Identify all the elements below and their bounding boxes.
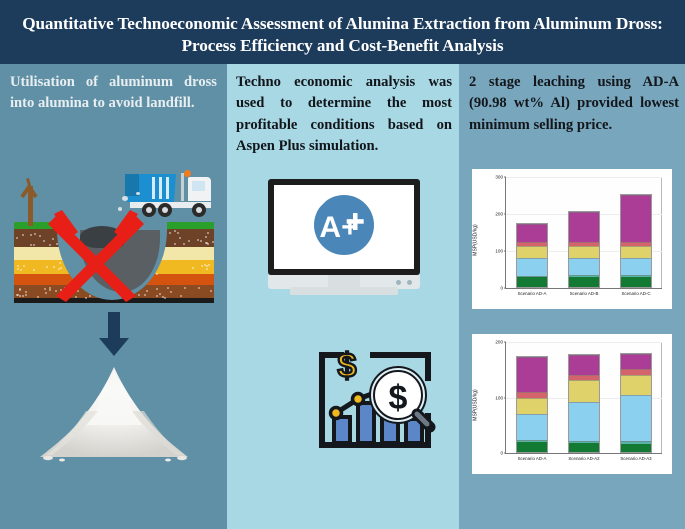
soil-speckle <box>17 265 19 267</box>
stacked-bar <box>620 194 652 288</box>
page-title: Quantitative Technoeconomic Assessment o… <box>12 13 673 56</box>
financial-analysis-icon: $ $ <box>314 341 436 453</box>
bar-segment-series-4 <box>517 398 547 414</box>
y-axis-tick-mark <box>504 213 506 214</box>
stacked-bar <box>568 354 600 453</box>
y-axis-tick-label: 300 <box>495 175 503 180</box>
bar-segment-series-6 <box>569 355 599 375</box>
bar-segment-series-3 <box>517 414 547 440</box>
graphical-abstract: Quantitative Technoeconomic Assessment o… <box>0 0 685 529</box>
chart-lower: MSP(USD/kg) 0100200Scenario AD-AScenario… <box>476 339 668 471</box>
chart-lower-plot-area: 0100200Scenario AD-AScenario AD-A2Scenar… <box>505 342 662 454</box>
landfill-illustration <box>14 170 214 303</box>
stacked-bar <box>568 211 600 288</box>
soil-speckle <box>25 291 27 293</box>
panel-left: Utilisation of aluminum dross into alumi… <box>0 64 227 529</box>
truck-wheel <box>142 203 156 217</box>
truck-exhaust-pipe <box>181 173 184 201</box>
y-axis-tick-label: 100 <box>495 248 503 253</box>
y-axis-minor-tick <box>505 425 506 426</box>
bar-segment-series-3 <box>621 258 651 275</box>
soil-speckle <box>210 290 212 292</box>
aspen-plus-logo-icon: A+ <box>313 194 375 256</box>
y-axis-minor-tick <box>505 195 506 196</box>
monitor-illustration: A+ <box>260 179 428 303</box>
soil-speckle <box>22 295 24 297</box>
y-axis-tick-label: 200 <box>495 340 503 345</box>
y-axis-tick-mark <box>504 177 506 178</box>
panel-middle-text: Techno economic analysis was used to det… <box>236 72 452 158</box>
bar-segment-series-1 <box>569 277 599 287</box>
soil-speckle <box>174 243 176 245</box>
stacked-bar <box>620 353 652 453</box>
y-axis-tick-label: 200 <box>495 211 503 216</box>
monitor-base <box>290 287 398 295</box>
truck-wheel <box>192 203 206 217</box>
bar-segment-series-3 <box>517 258 547 275</box>
y-axis-minor-tick <box>505 369 506 370</box>
bar-segment-series-6 <box>621 354 651 370</box>
down-arrow-icon <box>99 312 129 356</box>
y-axis-tick-mark <box>504 453 506 454</box>
panel-middle: Techno economic analysis was used to det… <box>227 64 459 529</box>
chart-upper: MSP(USD/kg) 0100200300Scenario AD-AScena… <box>476 174 668 306</box>
y-axis-tick-mark <box>504 397 506 398</box>
bar-segment-series-4 <box>569 246 599 258</box>
stacked-bar <box>516 356 548 453</box>
bar-segment-series-6 <box>569 212 599 242</box>
bar-segment-series-1 <box>621 444 651 452</box>
y-axis-minor-tick <box>505 269 506 270</box>
stacked-bar <box>516 223 548 288</box>
soil-speckle <box>33 269 35 271</box>
truck-window <box>192 181 205 191</box>
bar-segment-series-1 <box>517 277 547 287</box>
soil-speckle <box>34 233 36 235</box>
bar-segment-series-4 <box>621 246 651 258</box>
soil-speckle <box>207 232 209 234</box>
y-axis-tick-mark <box>504 288 506 289</box>
soil-speckle <box>156 273 158 275</box>
red-x-cross-icon <box>48 210 144 302</box>
soil-speckle <box>170 291 172 293</box>
gridline <box>506 342 662 343</box>
plot-frame-right <box>661 177 662 288</box>
x-axis-tick-label: Scenario AD-A3 <box>620 456 651 461</box>
soil-speckle <box>198 287 200 289</box>
x-axis-tick-label: Scenario AD-A <box>518 291 547 296</box>
dust-particle <box>132 203 137 207</box>
chart-card-upper: MSP(USD/kg) 0100200300Scenario AD-AScena… <box>472 169 672 309</box>
chart-upper-ylabel: MSP(USD/kg) <box>473 224 479 255</box>
x-axis-tick-label: Scenario AD-C <box>621 291 650 296</box>
truck-beacon-light <box>184 170 191 177</box>
x-axis-tick-label: Scenario AD-A2 <box>568 456 599 461</box>
y-axis-tick-mark <box>504 342 506 343</box>
bar-segment-series-1 <box>517 442 547 452</box>
chart-card-lower: MSP(USD/kg) 0100200Scenario AD-AScenario… <box>472 334 672 474</box>
monitor-indicator-dot <box>396 280 401 285</box>
monitor-neck <box>328 275 360 287</box>
bar-segment-series-3 <box>569 258 599 275</box>
bar-segment-series-6 <box>517 357 547 391</box>
dust-particle <box>122 196 128 201</box>
soil-speckle <box>183 243 185 245</box>
y-axis-minor-tick <box>505 232 506 233</box>
bar-segment-series-3 <box>569 402 599 441</box>
dust-particle <box>136 192 140 195</box>
x-axis-tick-label: Scenario AD-B <box>570 291 599 296</box>
truck-wheel <box>158 203 172 217</box>
y-axis-tick-label: 0 <box>500 286 503 291</box>
soil-speckle <box>206 268 208 270</box>
bar-segment-series-4 <box>517 246 547 258</box>
chart-lower-ylabel: MSP(USD/kg) <box>473 389 479 420</box>
bar-segment-series-1 <box>569 443 599 452</box>
soil-speckle <box>207 243 209 245</box>
panel-right: 2 stage leaching using AD-A (90.98 wt% A… <box>459 64 685 529</box>
soil-speckle <box>169 232 171 234</box>
y-axis-tick-label: 100 <box>495 395 503 400</box>
truck-rib <box>152 177 155 199</box>
soil-speckle <box>17 268 19 270</box>
gridline <box>506 177 662 178</box>
bar-segment-series-4 <box>569 380 599 402</box>
truck-rib <box>166 177 169 199</box>
bar-segment-series-6 <box>621 195 651 242</box>
bar-segment-series-1 <box>621 277 651 287</box>
chart-upper-plot-area: 0100200300Scenario AD-AScenario AD-BScen… <box>505 177 662 289</box>
alumina-powder-pile <box>38 361 190 467</box>
soil-speckle <box>30 234 32 236</box>
soil-speckle <box>19 295 21 297</box>
soil-speckle <box>212 241 214 243</box>
panel-right-text: 2 stage leaching using AD-A (90.98 wt% A… <box>469 72 679 136</box>
y-axis-tick-label: 0 <box>500 451 503 456</box>
truck-rib <box>159 177 162 199</box>
soil-speckle <box>33 244 35 246</box>
bar-segment-series-3 <box>621 395 651 440</box>
soil-speckle <box>177 232 179 234</box>
aspen-logo-letter: A+ <box>319 211 358 244</box>
dollar-sign-icon: $ <box>338 347 357 385</box>
monitor-indicator-dot <box>407 280 412 285</box>
soil-speckle <box>205 236 207 238</box>
bar-segment-series-4 <box>621 375 651 396</box>
title-bar: Quantitative Technoeconomic Assessment o… <box>0 0 685 64</box>
soil-speckle <box>200 240 202 242</box>
panel-left-text: Utilisation of aluminum dross into alumi… <box>10 72 217 115</box>
bar-segment-series-6 <box>517 224 547 242</box>
x-axis-tick-label: Scenario AD-A <box>518 456 547 461</box>
y-axis-tick-mark <box>504 250 506 251</box>
soil-speckle <box>184 287 186 289</box>
magnifier-dollar-symbol: $ <box>389 379 408 417</box>
